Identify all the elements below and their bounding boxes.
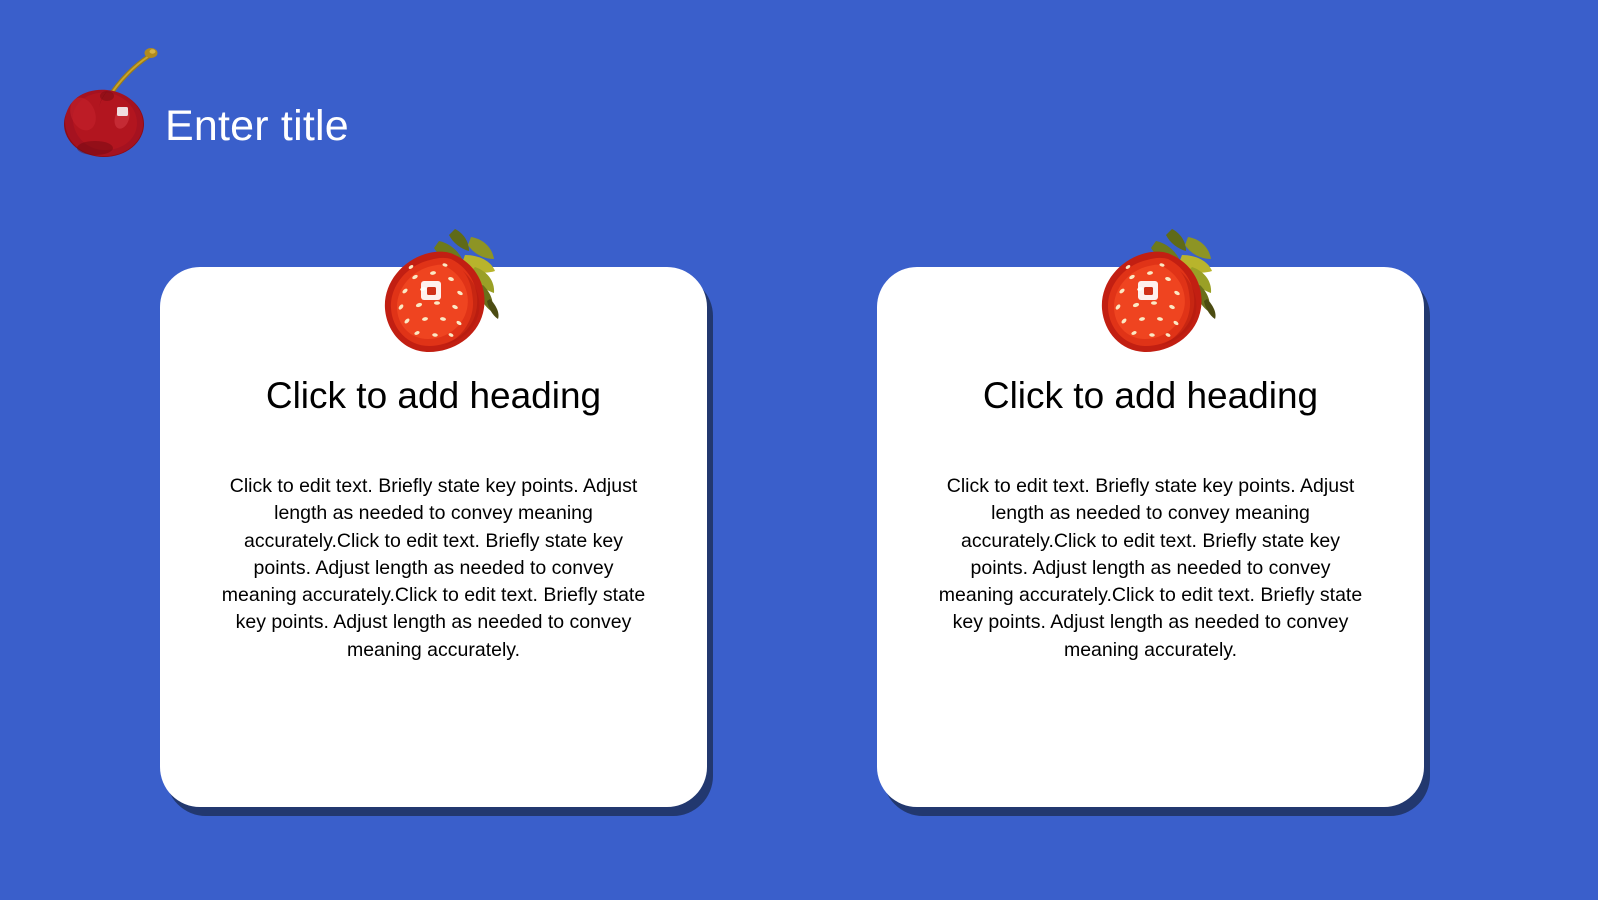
content-card-left[interactable]: Click to add heading Click to edit text.…	[160, 267, 707, 807]
page-title[interactable]: Enter title	[165, 96, 349, 156]
cherry-icon	[55, 28, 163, 158]
strawberry-icon	[1076, 215, 1226, 365]
slide-canvas: Enter title	[0, 0, 1598, 900]
card-heading[interactable]: Click to add heading	[160, 375, 707, 417]
card-heading[interactable]: Click to add heading	[877, 375, 1424, 417]
content-card-right[interactable]: Click to add heading Click to edit text.…	[877, 267, 1424, 807]
card-body-text[interactable]: Click to edit text. Briefly state key po…	[218, 473, 650, 664]
card-body-text[interactable]: Click to edit text. Briefly state key po…	[935, 473, 1367, 664]
card-inner: Click to add heading Click to edit text.…	[877, 267, 1424, 807]
strawberry-icon	[359, 215, 509, 365]
card-inner: Click to add heading Click to edit text.…	[160, 267, 707, 807]
title-row: Enter title	[0, 0, 1598, 190]
